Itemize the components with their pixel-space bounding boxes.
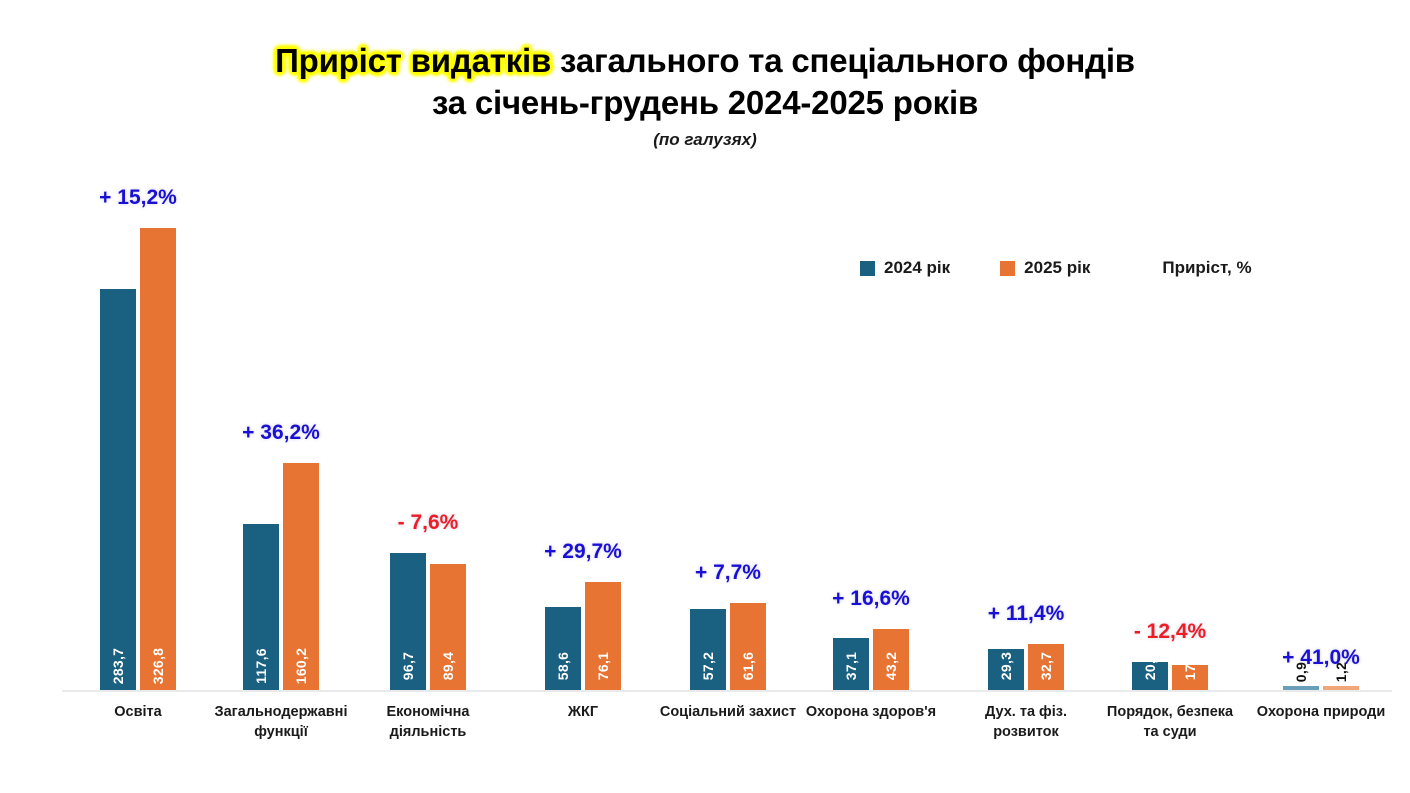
bar-2024[interactable]: 96,7: [390, 553, 426, 690]
growth-label: + 36,2%: [242, 421, 320, 445]
bar-group: 96,789,4- 7,6%: [390, 0, 466, 793]
growth-label: + 41,0%: [1282, 646, 1360, 670]
growth-label: + 7,7%: [695, 561, 761, 585]
bar-2025[interactable]: 1,2: [1323, 686, 1359, 690]
bar-group: 283,7326,8+ 15,2%: [100, 0, 176, 793]
bar-2024[interactable]: 37,1: [833, 638, 869, 690]
bar-value-label: 76,1: [595, 652, 611, 680]
bar-2025[interactable]: 89,4: [430, 564, 466, 690]
bar-value-label: 43,2: [883, 652, 899, 680]
category-label: Охорона природи: [1226, 702, 1410, 722]
bar-2025[interactable]: 32,7: [1028, 644, 1064, 690]
bar-2025[interactable]: 17,6: [1172, 665, 1208, 690]
bar-value-label: 20,1: [1142, 652, 1158, 680]
bar-group: 117,6160,2+ 36,2%: [243, 0, 319, 793]
bar-2024[interactable]: 283,7: [100, 289, 136, 690]
bar-group: 58,676,1+ 29,7%: [545, 0, 621, 793]
bar-value-label: 283,7: [110, 648, 126, 685]
bar-2024[interactable]: 117,6: [243, 524, 279, 690]
category-label-line: Охорона природи: [1226, 702, 1410, 722]
bar-2025[interactable]: 160,2: [283, 463, 319, 690]
bar-value-label: 96,7: [400, 652, 416, 680]
bar-2024[interactable]: 58,6: [545, 607, 581, 690]
chart-plot-area: 283,7326,8+ 15,2%117,6160,2+ 36,2%96,789…: [0, 0, 1410, 793]
growth-label: - 7,6%: [398, 511, 459, 535]
bar-value-label: 117,6: [253, 648, 269, 684]
bar-group: 20,117,6- 12,4%: [1132, 0, 1208, 793]
growth-label: + 15,2%: [99, 186, 177, 210]
bar-2025[interactable]: 43,2: [873, 629, 909, 690]
bar-value-label: 57,2: [700, 652, 716, 680]
bar-value-label: 29,3: [998, 652, 1014, 680]
bar-value-label: 32,7: [1038, 652, 1054, 680]
growth-label: + 29,7%: [544, 540, 622, 564]
bar-2024[interactable]: 57,2: [690, 609, 726, 690]
bar-value-label: 17,6: [1182, 652, 1198, 680]
bar-2024[interactable]: 20,1: [1132, 662, 1168, 690]
bar-value-label: 89,4: [440, 652, 456, 680]
bar-group: 29,332,7+ 11,4%: [988, 0, 1064, 793]
bar-value-label: 326,8: [150, 648, 166, 685]
bar-group: 37,143,2+ 16,6%: [833, 0, 909, 793]
bar-value-label: 37,1: [843, 652, 859, 680]
bar-2025[interactable]: 326,8: [140, 228, 176, 690]
growth-label: + 16,6%: [832, 587, 910, 611]
bar-group: 57,261,6+ 7,7%: [690, 0, 766, 793]
category-label-line: діяльність: [333, 722, 523, 742]
bar-2025[interactable]: 61,6: [730, 603, 766, 690]
growth-label: - 12,4%: [1134, 620, 1206, 644]
growth-label: + 11,4%: [988, 602, 1064, 626]
bar-2024[interactable]: 29,3: [988, 649, 1024, 690]
bar-value-label: 61,6: [740, 652, 756, 680]
category-label-line: та суди: [1075, 722, 1265, 742]
bar-value-label: 58,6: [555, 652, 571, 680]
bar-2024[interactable]: 0,9: [1283, 686, 1319, 690]
bar-2025[interactable]: 76,1: [585, 582, 621, 690]
bar-group: 0,91,2+ 41,0%: [1283, 0, 1359, 793]
bar-value-label: 160,2: [293, 648, 309, 685]
